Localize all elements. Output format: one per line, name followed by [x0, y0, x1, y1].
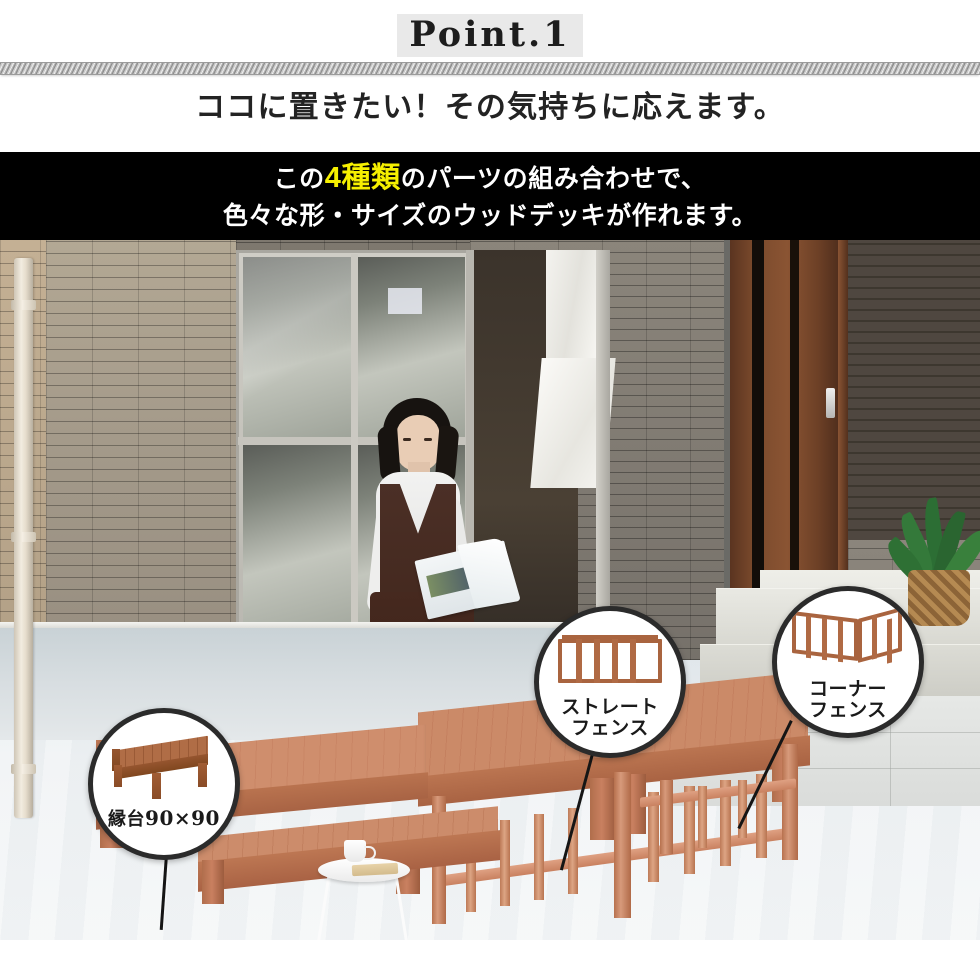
callout-corner-fence-caption: コーナー フェンス: [809, 679, 887, 722]
header-section: Point.1 ココに置きたい！その気持ちに応えます。: [0, 0, 980, 152]
downspout-bracket-top: [11, 300, 36, 310]
banner-highlight: 4種類: [325, 162, 401, 194]
straight-fence-slat-1: [576, 639, 582, 683]
glass-reflection: [243, 257, 351, 437]
downspout-bracket-bottom: [11, 764, 36, 774]
banner-line1-pre: この: [274, 165, 325, 193]
corner-fence-illustration: [792, 615, 904, 671]
railing-baluster-3: [534, 814, 544, 900]
callout-corner-fence[interactable]: コーナー フェンス: [772, 586, 924, 738]
corner-fence-slat-b2: [887, 618, 892, 663]
banner-line-2: 色々な形・サイズのウッドデッキが作れます。: [223, 199, 757, 235]
corner-fence-slat-a3: [838, 620, 843, 663]
endai-illustration: [108, 735, 220, 801]
straight-fence-frame: [558, 639, 662, 683]
woman-eye-right: [424, 438, 432, 441]
downspout-bracket-mid: [11, 532, 36, 542]
deck-leg-center: [590, 778, 616, 840]
callout-endai-size: 90×90: [145, 806, 220, 830]
corner-fence-slat-a2: [822, 618, 827, 661]
railing-post-back-1: [660, 780, 673, 854]
slat-accent-wall: [848, 240, 980, 540]
endai-leg-2: [152, 773, 161, 799]
window-sticker: [388, 288, 422, 314]
straight-fence-illustration: [558, 635, 662, 687]
railing-baluster-back-1: [698, 786, 707, 848]
callout-straight-fence-caption: ストレート フェンス: [561, 697, 659, 740]
entry-door-handle: [826, 388, 835, 418]
page-headline: ココに置きたい！その気持ちに応えます。: [0, 82, 980, 126]
endai-leg-3: [198, 763, 207, 787]
deck-step-leg-left: [202, 860, 224, 904]
black-banner: この4種類のパーツの組み合わせで、 色々な形・サイズのウッドデッキが作れます。: [0, 152, 980, 240]
bottom-white-margin: [0, 940, 980, 980]
product-promo-image: Point.1 ココに置きたい！その気持ちに応えます。 この4種類のパーツの組み…: [0, 0, 980, 980]
callout-endai-label: 縁台: [108, 809, 145, 829]
railing-baluster-2: [500, 820, 510, 906]
corner-fence-frame-b: [858, 607, 902, 663]
callout-corner-fence-line2: フェンス: [809, 700, 887, 721]
glass-pane-bottom-left: [243, 445, 351, 643]
point-badge: Point.1: [397, 14, 582, 57]
coffee-cup: [344, 840, 366, 862]
straight-fence-slat-2: [594, 639, 600, 683]
endai-leg-1: [114, 765, 122, 787]
rope-divider: [0, 62, 980, 75]
corner-fence-slat-a1: [806, 616, 811, 659]
window-mullion-vertical: [351, 254, 358, 646]
point-badge-wrap: Point.1: [0, 14, 980, 57]
callout-straight-fence[interactable]: ストレート フェンス: [534, 606, 686, 758]
banner-line-1: この4種類のパーツの組み合わせで、: [274, 158, 707, 199]
banner-line1-post: のパーツの組み合わせで、: [401, 165, 707, 193]
product-photo: 縁台90×90 ストレート フェンス: [0, 240, 980, 940]
callout-corner-fence-line1: コーナー: [809, 679, 887, 700]
callout-straight-fence-line2: フェンス: [561, 718, 659, 739]
straight-fence-slat-4: [630, 639, 636, 683]
callout-endai[interactable]: 縁台90×90: [88, 708, 240, 860]
railing-post-right: [782, 744, 798, 860]
callout-straight-fence-line1: ストレート: [561, 697, 659, 718]
railing-post-center: [614, 772, 631, 918]
woman-eye-left: [403, 438, 411, 441]
callout-endai-caption: 縁台90×90: [108, 807, 220, 829]
corner-fence-slat-b1: [872, 614, 877, 659]
wicker-basket-planter: [908, 570, 970, 626]
straight-fence-slat-3: [612, 639, 618, 683]
